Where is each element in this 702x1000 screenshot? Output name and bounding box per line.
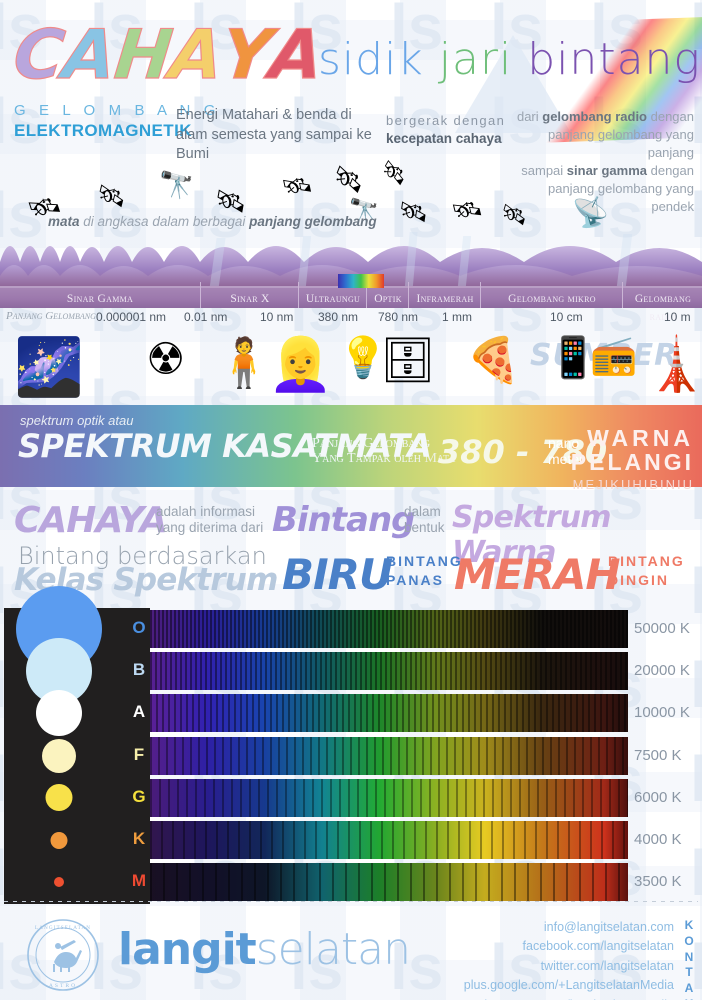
title-letter: H [111, 22, 174, 90]
brand-wordmark: langitselatan [118, 924, 410, 975]
langitselatan-seal-logo: LANGITSELATAN ASTRO [22, 916, 104, 994]
wavelength-label: 1 mm [442, 310, 472, 324]
dalam-bentuk-label: dalam bentuk [404, 504, 445, 537]
infographic-poster: lslslslslslslslslslslslslslslslslslslsls… [0, 0, 702, 1000]
spectrum-band-label: Sinar X [202, 290, 298, 308]
spektrum-optik-label: spektrum optik atau [20, 413, 133, 428]
wavelength-label: 10 cm [550, 310, 583, 324]
kontak-letter: O [682, 934, 696, 950]
band-tick [480, 282, 481, 308]
header-col-speed: bergerak dengan kecepatan cahaya [386, 112, 506, 149]
spectrum-band-label: Inframerah [410, 290, 480, 308]
divider [4, 901, 698, 902]
spectral-class-letter: O [128, 618, 150, 638]
wavelength-label: 0.01 nm [184, 310, 227, 324]
temperature-label: 3500 K [634, 873, 682, 890]
satellite-icon: 🛰 [396, 196, 430, 229]
temperature-label: 7500 K [634, 747, 682, 764]
space-telescope-icon: 🔭 [158, 166, 197, 204]
header-col-range: dari gelombang radio dengan panjang gelo… [504, 108, 694, 216]
spectral-class-letter: B [128, 660, 150, 680]
electromagnetic-spectrum-bar: Sinar GammaSinar XUltraunguOptikInframer… [0, 286, 702, 308]
header-col-energy: Energi Matahari & benda di alam semesta … [176, 106, 376, 165]
star-size-marker [51, 832, 68, 849]
star-size-marker [54, 877, 64, 887]
biru-word: BIRU [282, 550, 392, 599]
wavelength-scale: Panjang Gelombang 0.000001 nm0.01 nm10 n… [0, 310, 702, 328]
contact-line[interactable]: instagram.com/langitselatanmedia [464, 996, 674, 1000]
xray-person-icon: 🧍 [214, 334, 274, 391]
spectrum-strip [150, 694, 628, 732]
visible-spectrum-banner: spektrum optik atau SPEKTRUM KASATMATA P… [0, 405, 702, 487]
bintang-panas-label: BINTANG PANAS [386, 552, 463, 590]
kontak-letter: N [682, 950, 696, 966]
kontak-letter: A [682, 981, 696, 997]
spectrum-strip [150, 610, 628, 648]
mata-di-angkasa-caption: mata di angkasa dalam berbagai panjang g… [48, 214, 377, 229]
spectrum-band-label: Gelombang radio [624, 290, 702, 308]
spectrum-strip [150, 863, 628, 901]
bintang-dingin-label: BINTANG DINGIN [608, 552, 685, 590]
galaxy-map-icon: 🌌 [14, 334, 84, 400]
wavelength-label: 780 nm [378, 310, 418, 324]
spectrum-band-label: Gelombang mikro [482, 290, 622, 308]
title-letter: A [267, 22, 326, 90]
source-icons-row: 🌌☢🧍👱‍♀️💡🗄🍕📱📻🗼 [0, 330, 702, 402]
mid-text-section: CAHAYA adalah informasi yang diterima da… [0, 492, 702, 604]
star-size-marker [46, 784, 73, 811]
radio-tower-icon: 🗼 [644, 334, 702, 395]
temperature-label: 50000 K [634, 620, 690, 637]
panjang-gelombang-mata-label: Panjang Gelombang Yang Tampak oleh Mata [312, 437, 456, 466]
star-size-column: OBAFGKM [4, 608, 150, 904]
wavelength-label: 10 nm [260, 310, 293, 324]
title-letter: Y [219, 22, 274, 90]
sunbathing-woman-icon: 👱‍♀️ [268, 334, 333, 395]
kontak-letter: T [682, 965, 696, 981]
spectrum-strip [150, 779, 628, 817]
cahaya-word: CAHAYA [14, 500, 167, 541]
temperature-label: 10000 K [634, 704, 690, 721]
subtitle-word: bintang [527, 34, 701, 85]
contact-list: info@langitselatan.comfacebook.com/langi… [464, 918, 674, 1000]
band-tick [622, 282, 623, 308]
kecepatan-cahaya-label: kecepatan cahaya [386, 131, 502, 146]
star-size-marker [36, 690, 82, 736]
space-probe-icon: 🛰 [449, 193, 486, 229]
seal-top-text: LANGITSELATAN [35, 925, 91, 931]
radio-receiver-icon: 📻 [590, 334, 637, 378]
spectrum-band-label: Ultraungu [300, 290, 366, 308]
bintang-word: Bintang [272, 500, 415, 540]
seal-bottom-text: ASTRO [49, 983, 77, 989]
satellite-icon: 🛰 [279, 169, 315, 204]
spectral-class-letter: A [128, 702, 150, 722]
temperature-label: 6000 K [634, 789, 682, 806]
spectral-class-letter: M [128, 871, 150, 891]
subtitle-word: sidik [318, 34, 439, 85]
title-letter: A [167, 22, 226, 90]
wavelength-label: 0.000001 nm [96, 310, 166, 324]
spectrum-strip [150, 821, 628, 859]
radiation-hazard-icon: ☢ [146, 334, 185, 385]
band-tick [200, 282, 201, 308]
bergerak-dengan-label: bergerak dengan [386, 112, 506, 130]
spectrum-strip [150, 737, 628, 775]
spectral-class-letter: F [128, 745, 150, 765]
merah-word: MERAH [454, 550, 619, 599]
band-tick [298, 282, 299, 308]
kontak-vertical-label: KONTAK [682, 918, 696, 1000]
spectrum-band-label: Optik [368, 290, 408, 308]
spectral-class-letter: G [128, 787, 150, 807]
kontak-letter: K [682, 918, 696, 934]
warna-pelangi-label: WARNA PELANGI MEJIKUHIBINIU [571, 425, 694, 492]
band-tick [408, 282, 409, 308]
spectrum-strip [150, 652, 628, 690]
title-letter: A [59, 22, 118, 90]
poster-header: CAHAYA sidik jari bintang G E L O M B A … [0, 0, 702, 170]
page-title: CAHAYA [14, 22, 322, 90]
stellar-spectral-class-chart: OBAFGKM 50000 K20000 K10000 K7500 K6000 … [4, 608, 698, 904]
temperature-label: 4000 K [634, 831, 682, 848]
optical-spectrum-chip [338, 274, 384, 288]
title-letter: C [10, 22, 66, 90]
spectral-class-letter: K [128, 829, 150, 849]
poster-footer: LANGITSELATAN ASTRO langitselatan info@l… [0, 906, 702, 1000]
subtitle-word: jari [439, 34, 528, 85]
page-subtitle: sidik jari bintang [318, 34, 701, 85]
contact-line[interactable]: info@langitselatan.com [464, 918, 674, 937]
heater-icon: 🗄 [380, 334, 436, 386]
star-size-marker [42, 739, 76, 773]
temperature-label: 20000 K [634, 662, 690, 679]
wavelength-label: 10 m [664, 310, 691, 324]
contact-line[interactable]: facebook.com/langitselatan [464, 937, 674, 956]
spectrum-band-label: Sinar Gamma [0, 290, 200, 308]
microwave-oven-icon: 🍕 [466, 334, 521, 386]
contact-line[interactable]: plus.google.com/+LangitselatanMedia [464, 976, 674, 995]
panjang-gelombang-caption: Panjang Gelombang [6, 310, 96, 322]
adalah-informasi-label: adalah informasi yang diterima dari [156, 504, 263, 537]
wavelength-label: 380 nm [318, 310, 358, 324]
satellite-icon: 🛰 [93, 179, 130, 215]
contact-line[interactable]: twitter.com/langitselatan [464, 957, 674, 976]
